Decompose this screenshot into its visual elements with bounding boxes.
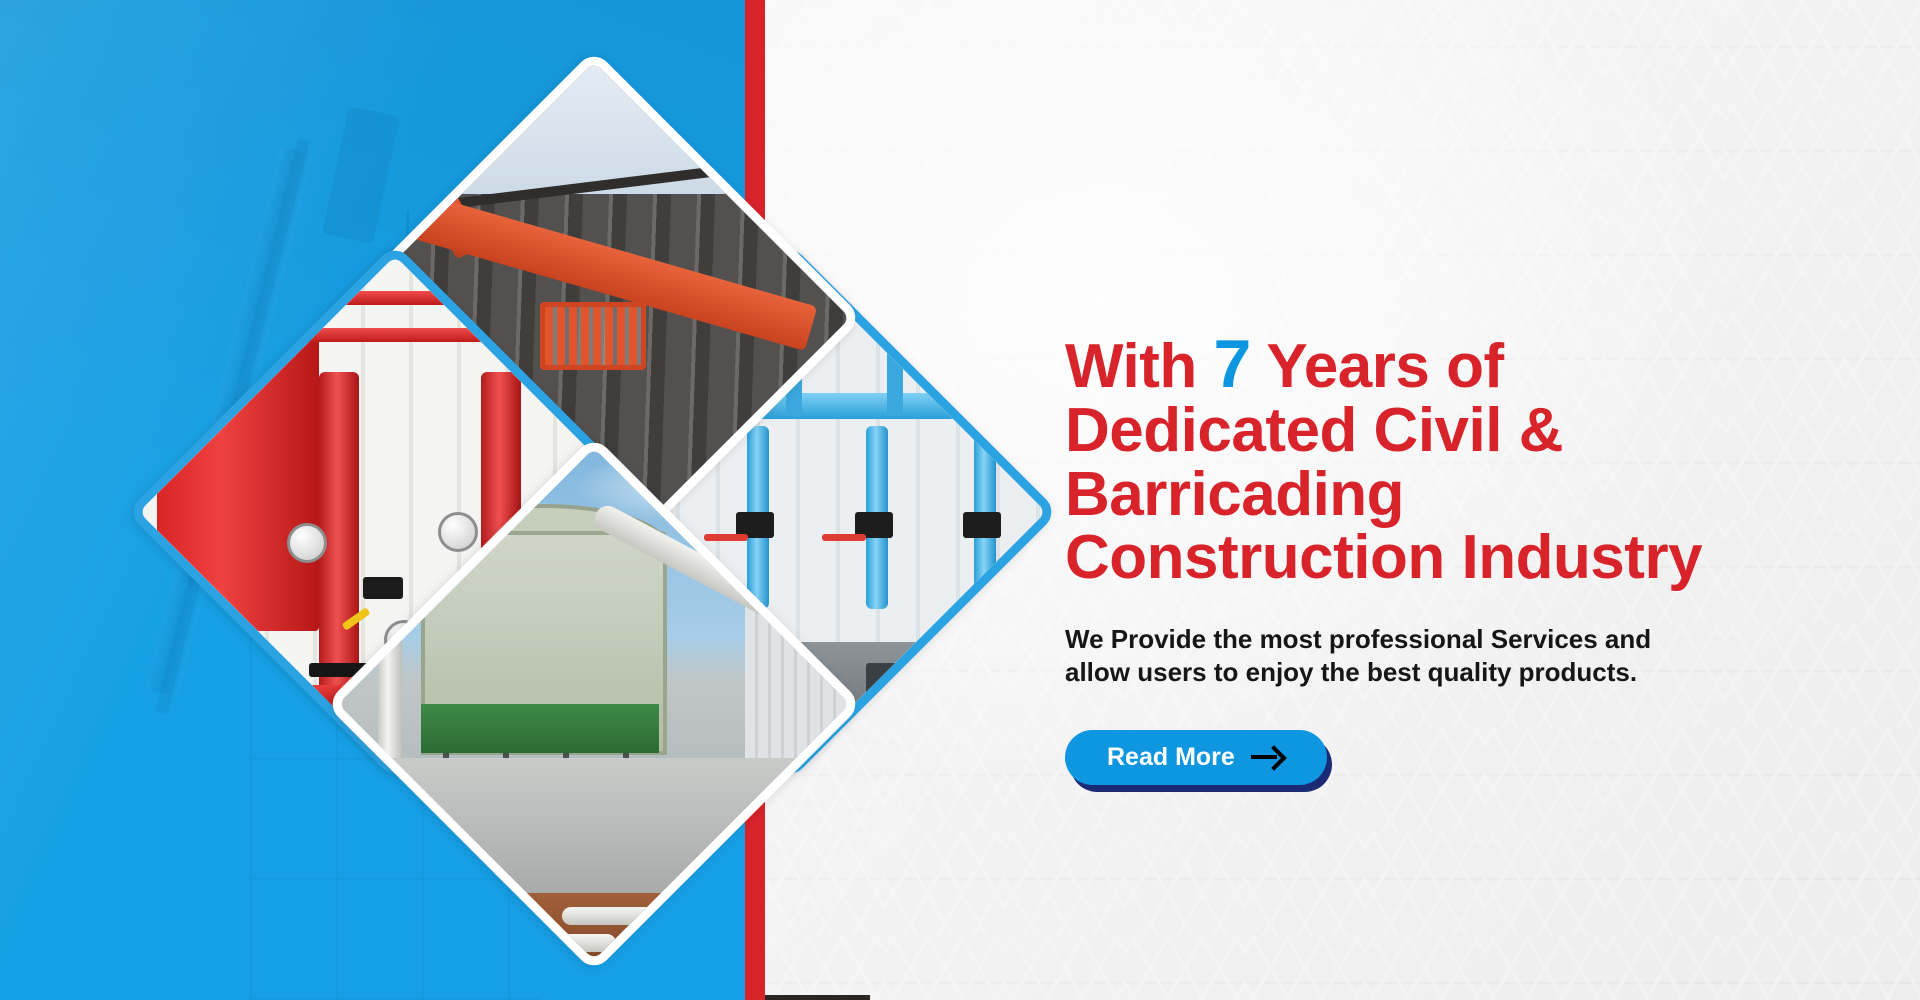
- blue-pipe-loop-2: [887, 328, 975, 414]
- read-more-label: Read More: [1107, 745, 1235, 770]
- subtitle-line-2: allow users to enjoy the best quality pr…: [1065, 656, 1765, 689]
- read-more-button[interactable]: Read More: [1065, 730, 1327, 785]
- roof-ridge-line: [325, 135, 862, 230]
- red-lever-handle-2: [704, 534, 748, 541]
- hero-subtitle: We Provide the most professional Service…: [1065, 623, 1765, 690]
- page-title: With 7 Years of Dedicated Civil & Barric…: [1065, 330, 1885, 589]
- black-valve-1: [363, 577, 403, 599]
- headline-years-number: 7: [1213, 326, 1250, 402]
- headline-line-3: Construction Industry: [1065, 526, 1885, 589]
- status-led-red: [886, 686, 898, 696]
- headline-line-1: With 7 Years of: [1065, 330, 1885, 399]
- status-led-amber: [918, 686, 930, 696]
- bottom-dark-strip: [765, 995, 870, 1000]
- pressure-gauge-1: [287, 523, 327, 563]
- crane-work-basket: [540, 302, 646, 370]
- headline-prefix: With: [1065, 332, 1197, 401]
- pressure-gauge-2: [438, 512, 478, 552]
- hero-content: With 7 Years of Dedicated Civil & Barric…: [1065, 330, 1885, 785]
- cta-container: Read More: [1065, 730, 1885, 785]
- headline-suffix: Years of: [1266, 332, 1503, 401]
- arrow-right-icon: [1251, 746, 1285, 768]
- blue-valve-4: [963, 512, 1001, 538]
- cooling-tower-green-base: [421, 704, 659, 753]
- red-lever-handle-3: [822, 534, 866, 541]
- hero-banner: With 7 Years of Dedicated Civil & Barric…: [0, 0, 1920, 1000]
- status-led-green: [951, 686, 963, 696]
- headline-line-2: Dedicated Civil & Barricading: [1065, 399, 1885, 525]
- concrete-wall: [325, 758, 862, 898]
- diamond-photo-collage: [205, 134, 975, 888]
- subtitle-line-1: We Provide the most professional Service…: [1065, 623, 1765, 656]
